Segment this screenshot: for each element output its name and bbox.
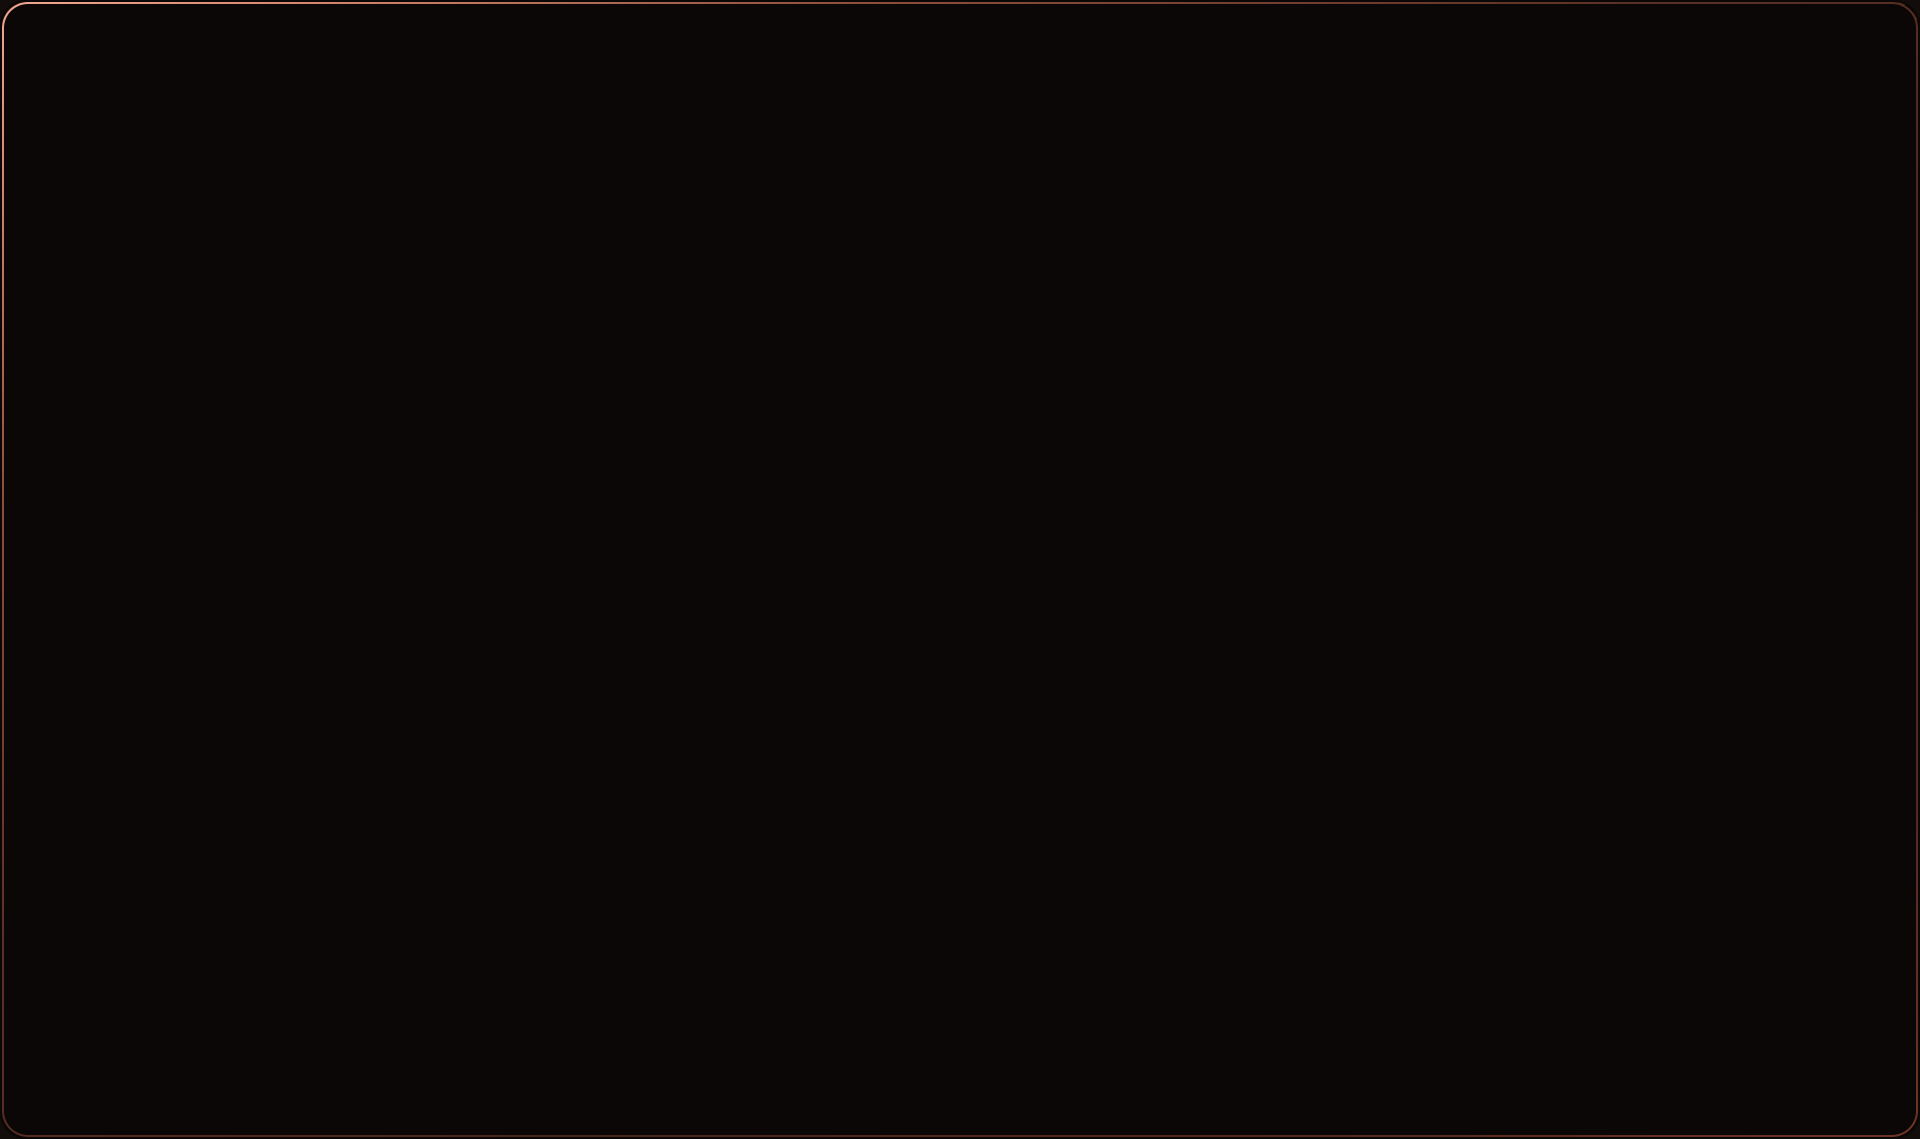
list-item: • UI microcopy [134, 395, 426, 428]
bullet-dot-icon: • [1410, 986, 1436, 1010]
list-item: • Readability [776, 608, 1026, 641]
bullet-dot-icon: • [776, 552, 802, 576]
stage-node-optimization[interactable] [748, 374, 850, 476]
list-item-label: Website copy [1436, 856, 1608, 889]
stage-title-focus-areas: Focus Areas [114, 254, 426, 293]
glowing-sphere-icon [1411, 663, 1457, 709]
list-item: • Campaign content [1410, 980, 1683, 1013]
stage-group-creative-outputs: Creative Outputs • Website copy • Produc… [1382, 777, 1683, 1013]
bullet-dot-icon: • [134, 525, 160, 549]
bullet-dot-icon: • [134, 401, 160, 425]
stage-group-optimization: Optimization • Clarity • Readability • C… [748, 467, 1026, 703]
list-item-label: Marketing content [160, 457, 389, 490]
stage-list-optimization: • Clarity • Readability • Conversion int… [776, 546, 1026, 703]
stage-list-creative-outputs: • Website copy • Product messaging • Cam… [1410, 856, 1683, 1013]
bullet-dot-icon: • [134, 339, 160, 363]
list-item-label: Clarity [802, 546, 883, 579]
stage-list-focus-areas: • Headlines & hooks • UI microcopy • Mar… [134, 333, 426, 552]
stage-node-creative-outputs[interactable] [1383, 635, 1485, 737]
list-item: • Conversion intent [776, 670, 1026, 703]
bullet-dot-icon: • [1410, 924, 1436, 948]
glowing-sphere-icon [776, 402, 822, 448]
bullet-dot-icon: • [776, 676, 802, 700]
list-item: • Product messaging [1410, 918, 1683, 951]
list-item-label: UI microcopy [160, 395, 328, 428]
list-item-label: Long-form narratives [160, 519, 426, 552]
stage-node-focus-areas[interactable] [112, 109, 214, 211]
list-item: • Headlines & hooks [134, 333, 426, 366]
glowing-sphere-icon [140, 137, 186, 183]
list-item-label: Readability [802, 608, 944, 641]
list-item-label: Product messaging [1436, 918, 1683, 951]
bullet-dot-icon: • [1410, 862, 1436, 886]
flow-diagram-card: Focus Areas • Headlines & hooks • UI mic… [0, 0, 1920, 1139]
list-item: • Website copy [1410, 856, 1683, 889]
bullet-dot-icon: • [134, 463, 160, 487]
bullet-dot-icon: • [776, 614, 802, 638]
list-item: • Marketing content [134, 457, 426, 490]
list-item-label: Conversion intent [802, 670, 1026, 703]
stage-title-creative-outputs: Creative Outputs [1382, 777, 1683, 816]
list-item-label: Campaign content [1436, 980, 1670, 1013]
stage-title-optimization: Optimization [748, 467, 1026, 506]
list-item: • Clarity [776, 546, 1026, 579]
list-item-label: Headlines & hooks [160, 333, 400, 366]
list-item: • Long-form narratives [134, 519, 426, 552]
stage-group-focus-areas: Focus Areas • Headlines & hooks • UI mic… [114, 254, 426, 552]
